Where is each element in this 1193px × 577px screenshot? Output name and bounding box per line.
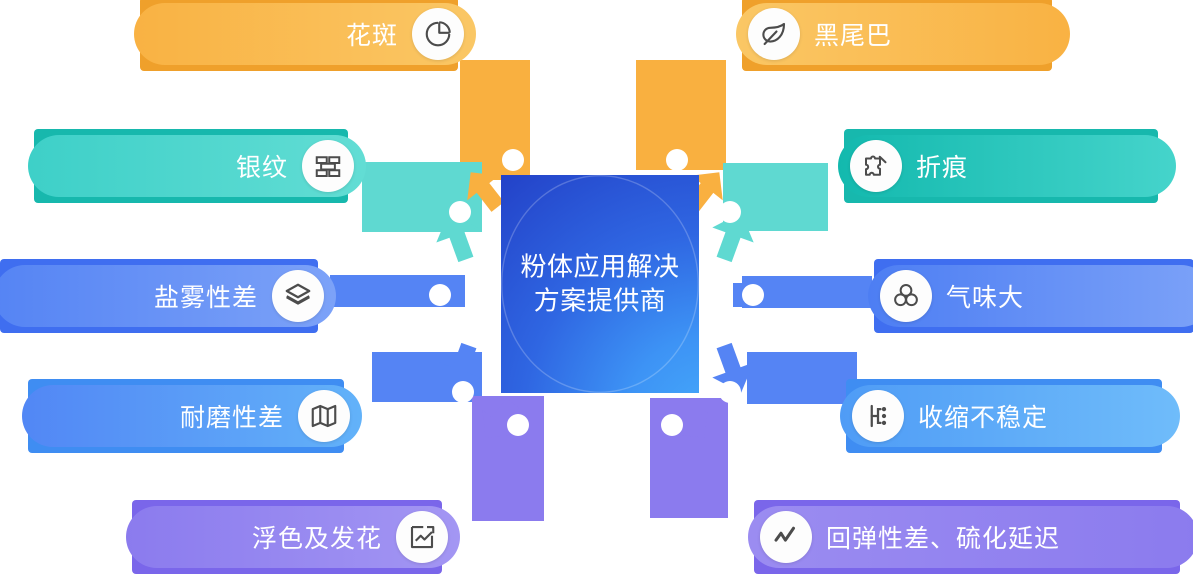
pill-body: 银纹 [28, 135, 366, 197]
pill-body: 折痕 [838, 135, 1176, 197]
pill-left-3[interactable]: 盐雾性差 [0, 265, 324, 327]
trending-up-icon [396, 511, 448, 563]
pill-left-5[interactable]: 浮色及发花 [126, 506, 448, 568]
connector-right-5 [640, 390, 720, 470]
pill-label: 折痕 [916, 148, 968, 184]
pill-label: 花斑 [346, 16, 398, 52]
connector-right-3 [703, 275, 773, 315]
connector-left-3 [420, 275, 490, 315]
pill-label: 黑尾巴 [814, 16, 892, 52]
center-node: 粉体应用解决 方案提供商 [501, 175, 699, 393]
pill-label: 收缩不稳定 [918, 398, 1048, 434]
connector-left-5 [470, 390, 550, 470]
pill-left-4[interactable]: 耐磨性差 [22, 385, 350, 447]
pill-label: 气味大 [946, 278, 1024, 314]
brick-wall-icon [302, 140, 354, 192]
pill-left-2[interactable]: 银纹 [28, 135, 354, 197]
center-label-line2: 方案提供商 [501, 284, 699, 318]
sitemap-icon [852, 390, 904, 442]
line-chart-icon [760, 511, 812, 563]
pill-label: 回弹性差、硫化延迟 [826, 519, 1060, 555]
pie-chart-icon [412, 8, 464, 60]
pill-body: 花斑 [134, 3, 476, 65]
infographic-canvas: 粉体应用解决 方案提供商 [0, 0, 1193, 577]
pill-body: 黑尾巴 [736, 3, 1070, 65]
leaf-icon [748, 8, 800, 60]
pill-left-1[interactable]: 花斑 [134, 3, 464, 65]
pill-body: 浮色及发花 [126, 506, 460, 568]
pill-right-1[interactable]: 黑尾巴 [736, 3, 1058, 65]
pill-label: 银纹 [236, 148, 288, 184]
recycle-icon [880, 270, 932, 322]
center-label: 粉体应用解决 方案提供商 [501, 250, 699, 319]
pill-body: 耐磨性差 [22, 385, 362, 447]
pill-right-4[interactable]: 收缩不稳定 [840, 385, 1168, 447]
map-icon [298, 390, 350, 442]
pill-right-2[interactable]: 折痕 [838, 135, 1164, 197]
pill-right-3[interactable]: 气味大 [868, 265, 1193, 327]
pill-body: 盐雾性差 [0, 265, 336, 327]
pill-body: 收缩不稳定 [840, 385, 1180, 447]
puzzle-icon [850, 140, 902, 192]
layers-icon [272, 270, 324, 322]
pill-body: 气味大 [868, 265, 1193, 327]
pill-label: 浮色及发花 [252, 519, 382, 555]
pill-right-5[interactable]: 回弹性差、硫化延迟 [748, 506, 1186, 568]
pill-label: 盐雾性差 [154, 278, 258, 314]
pill-body: 回弹性差、硫化延迟 [748, 506, 1193, 568]
pill-label: 耐磨性差 [180, 398, 284, 434]
center-label-line1: 粉体应用解决 [501, 250, 699, 284]
